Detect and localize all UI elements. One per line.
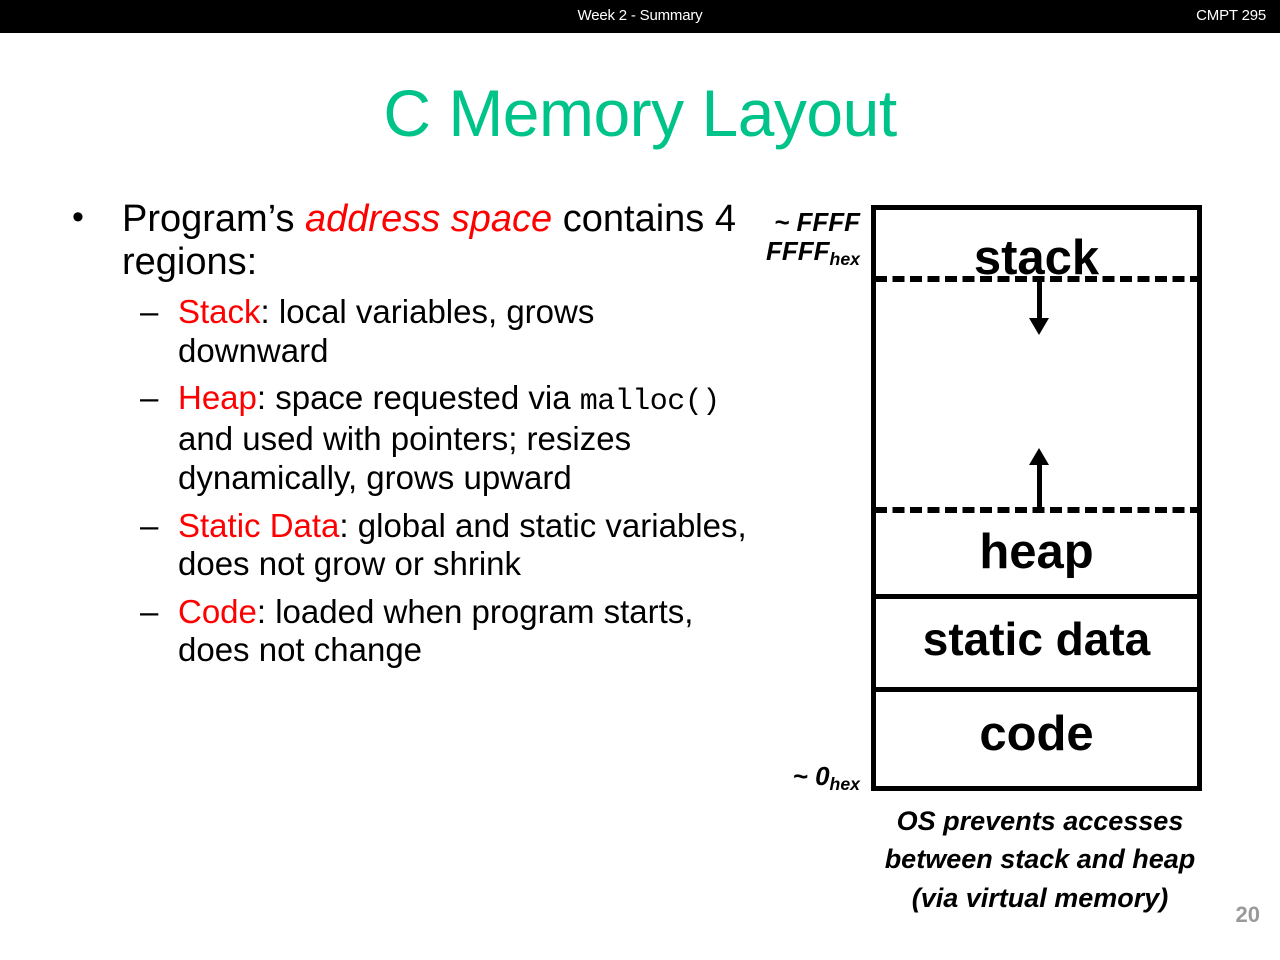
sub-bullet-heap: –Heap: space requested via malloc() and … [60, 379, 750, 497]
address-top-line2-subscript: hex [830, 249, 860, 269]
sub-bullet-marker: – [140, 293, 158, 332]
emphasis-address-space: address space [305, 198, 552, 240]
sub-bullet-marker: – [140, 593, 158, 632]
sub-bullet-marker: – [140, 379, 158, 418]
keyword-static-data: Static Data [178, 507, 339, 544]
page-title: C Memory Layout [0, 80, 1280, 146]
region-label-static-data: static data [876, 616, 1197, 662]
course-code: CMPT 295 [1196, 7, 1266, 24]
arrow-shaft [1037, 465, 1042, 509]
sub-bullet-code: –Code: loaded when program starts, does … [60, 593, 750, 670]
keyword-code: Code [178, 593, 257, 630]
address-bottom-base: ~ 0 [793, 761, 830, 791]
caption-line-3: (via virtual memory) [845, 879, 1235, 917]
address-bottom-subscript: hex [830, 774, 860, 794]
sub-bullet-heap-text-lead: : space requested via [257, 379, 580, 416]
sub-bullet-marker: – [140, 507, 158, 546]
diagram-caption: OS prevents accesses between stack and h… [845, 802, 1235, 917]
header-bar: Week 2 - Summary CMPT 295 [0, 0, 1280, 33]
arrow-head [1029, 318, 1049, 335]
keyword-stack: Stack [178, 293, 261, 330]
caption-line-2: between stack and heap [845, 840, 1235, 878]
address-label-bottom: ~ 0hex [690, 762, 860, 791]
bullet-text-lead: Program’s [122, 198, 305, 240]
sub-bullet-heap-text-tail: and used with pointers; resizes dynamica… [178, 420, 631, 496]
region-label-code: code [876, 710, 1197, 759]
sub-bullet-stack: –Stack: local variables, grows downward [60, 293, 750, 370]
static-code-divider [875, 687, 1202, 692]
region-label-heap: heap [876, 528, 1197, 577]
caption-line-1: OS prevents accesses [845, 802, 1235, 840]
heap-boundary-dashed-divider [875, 507, 1202, 513]
bullet-address-space: •Program’s address space contains 4 regi… [60, 198, 750, 283]
address-top-line2-base: FFFF [766, 236, 830, 266]
arrow-shaft [1037, 276, 1042, 321]
address-label-top: ~ FFFF FFFFhex [700, 208, 860, 266]
header-title: Week 2 - Summary [0, 7, 1280, 24]
slide-canvas: Week 2 - Summary CMPT 295 C Memory Layou… [0, 0, 1280, 960]
sub-bullet-static-data: –Static Data: global and static variable… [60, 507, 750, 584]
bullet-list: •Program’s address space contains 4 regi… [60, 198, 750, 670]
bullet-marker: • [72, 196, 84, 239]
heap-static-divider [875, 594, 1202, 599]
memory-layout-diagram: stack heap static data code [871, 205, 1202, 791]
keyword-heap: Heap [178, 379, 257, 416]
address-top-line1: ~ FFFF [700, 208, 860, 237]
code-malloc: malloc() [580, 385, 720, 419]
address-top-line2: FFFFhex [700, 237, 860, 266]
arrow-head [1029, 448, 1049, 465]
slide-number: 20 [1236, 902, 1260, 928]
